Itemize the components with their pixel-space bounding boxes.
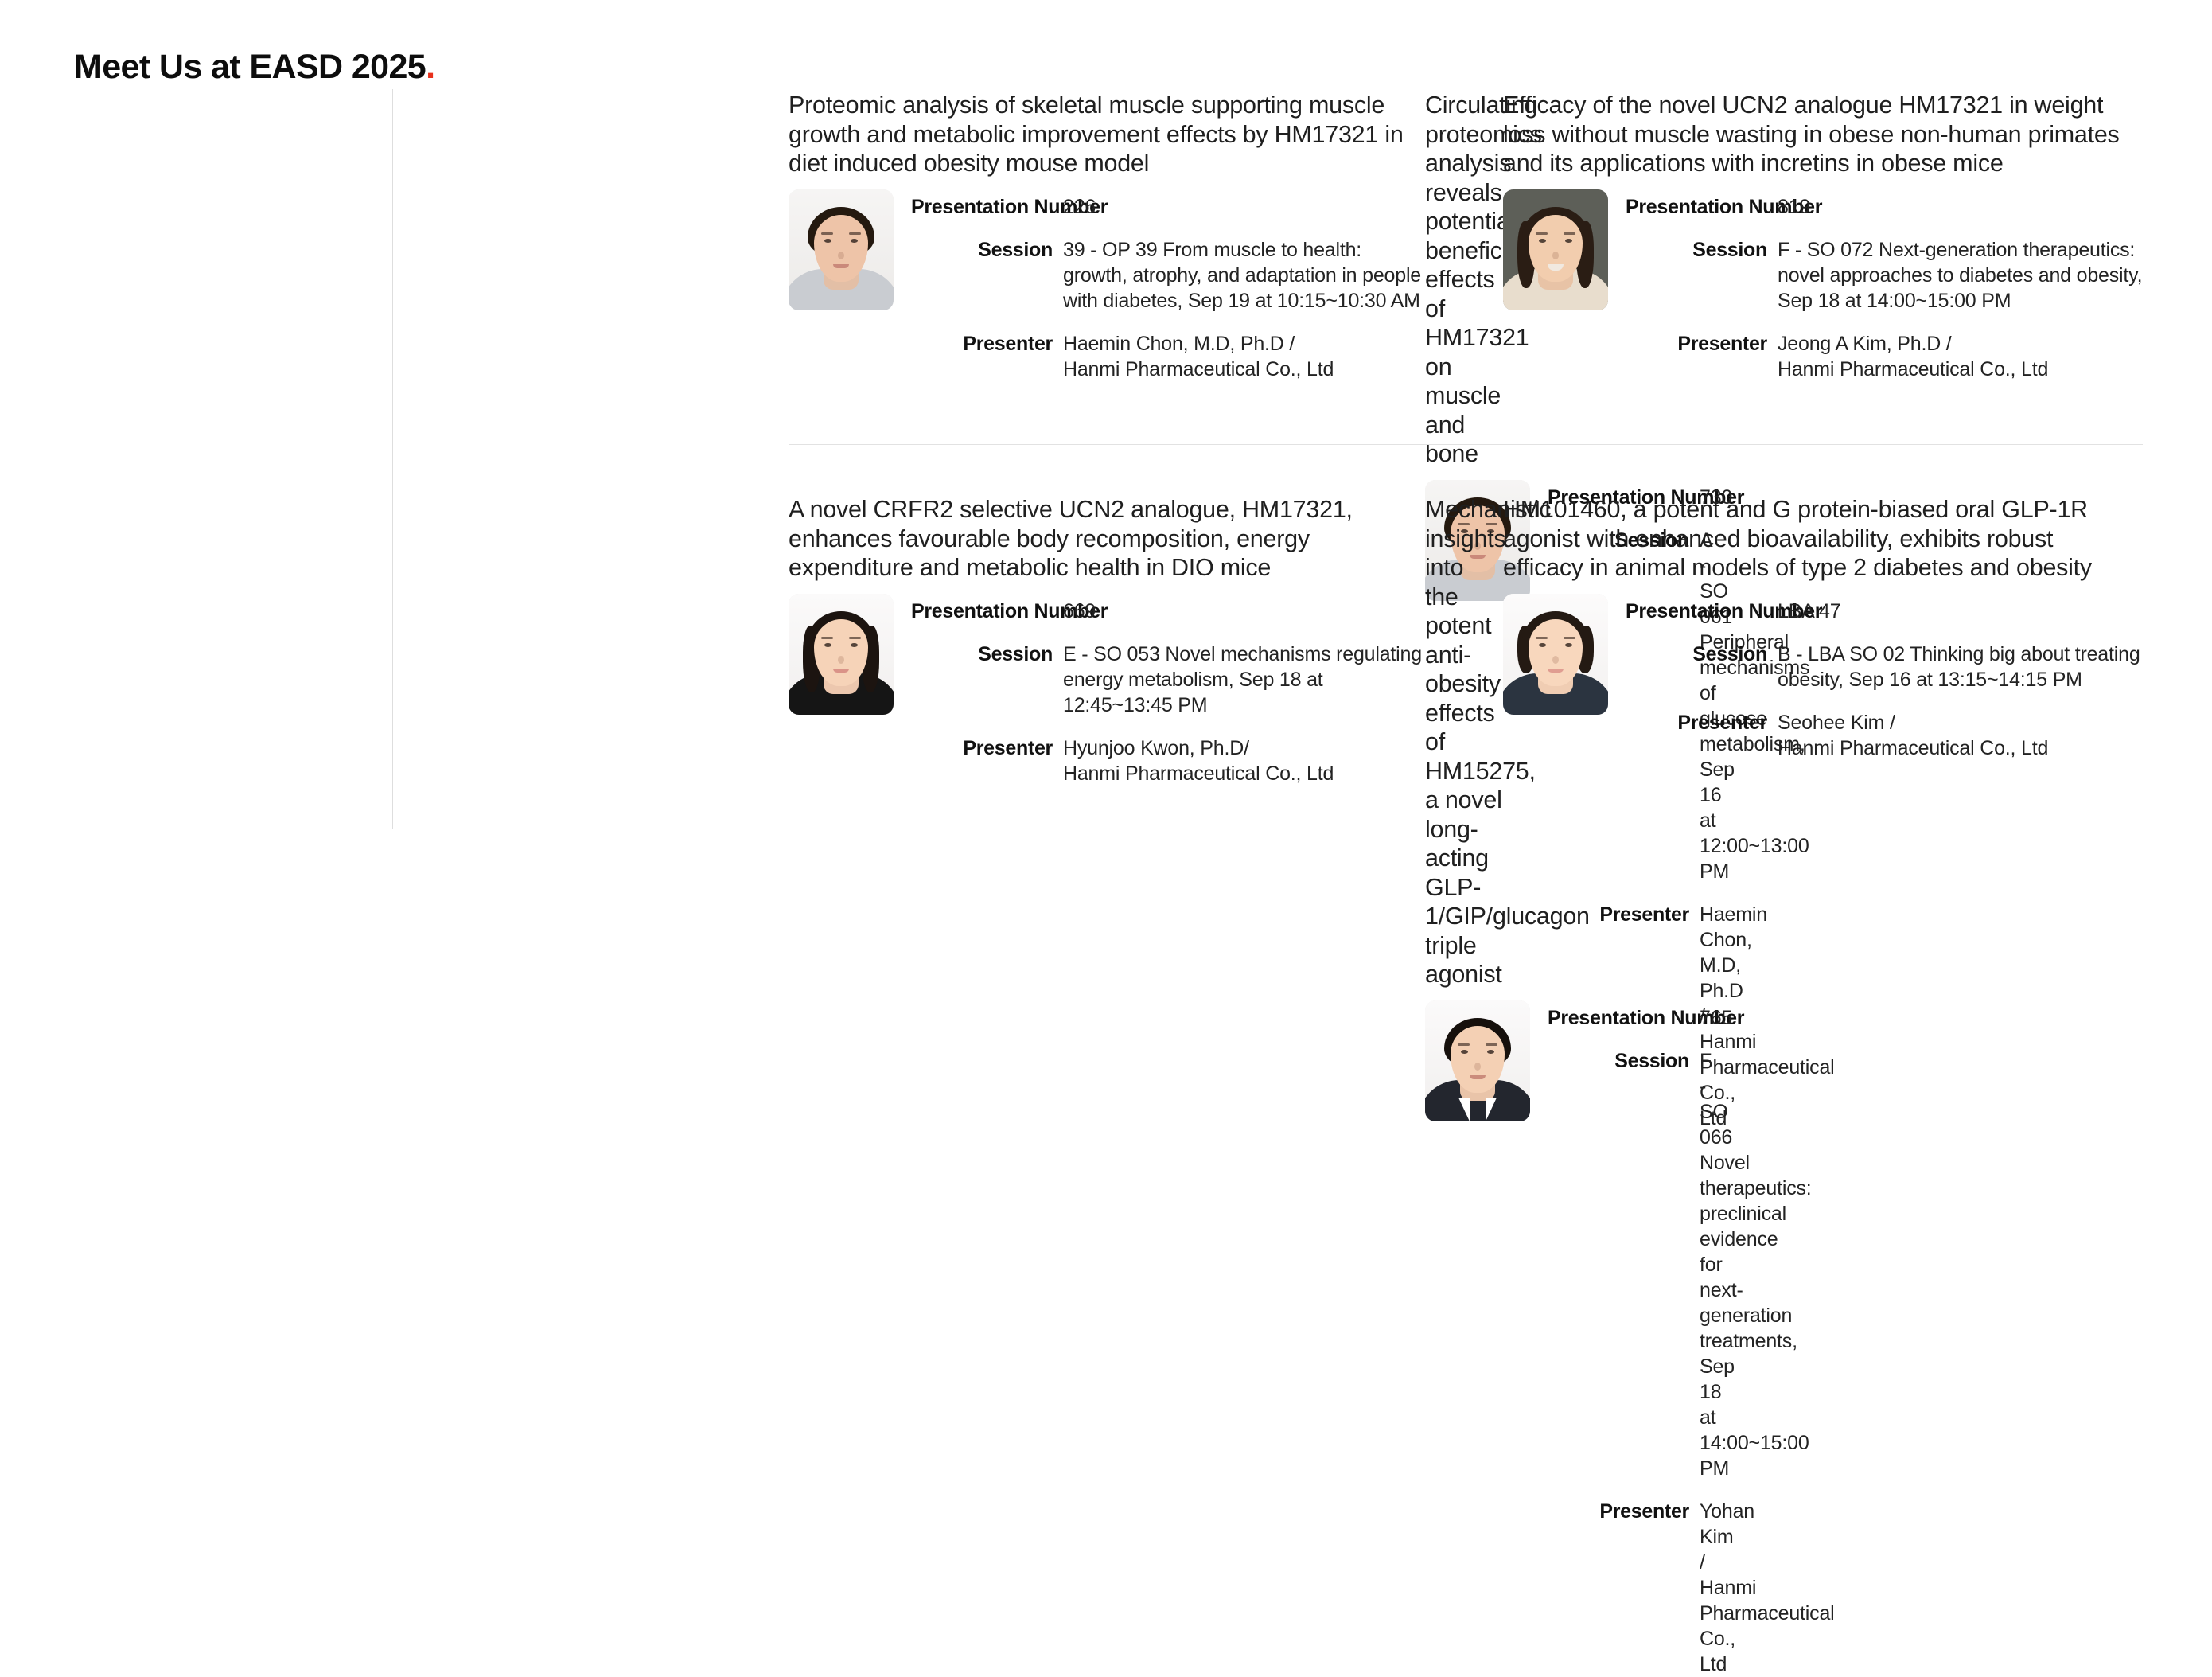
presentation-card[interactable]: A novel CRFR2 selective UCN2 analogue, H… [789, 449, 1425, 809]
presenter-name: Yohan Kim / [1700, 1500, 1754, 1574]
field-value: F - SO 072 Next-generation therapeutics:… [1767, 237, 2143, 314]
presenter-name: Hyunjoo Kwon, Ph.D/ [1063, 737, 1249, 759]
card-title: HM101460, a potent and G protein-biased … [1503, 495, 2140, 583]
photo-eye-left [1539, 239, 1546, 243]
presenter-name: Seohee Kim / [1778, 712, 1895, 734]
photo-brow-right [849, 637, 861, 639]
photo-mouth [1548, 669, 1564, 673]
field-label: Presentation Number [911, 194, 1053, 220]
column-divider-1 [392, 89, 393, 829]
card-body: Presentation Number 226 Session 39 - OP … [789, 189, 1425, 382]
field-value: Seohee Kim /Hanmi Pharmaceutical Co., Lt… [1767, 710, 2143, 761]
photo-collar-right [1486, 1098, 1497, 1121]
photo-eye-right [1565, 643, 1572, 647]
presentation-card[interactable]: Circulating proteomics analysis reveals … [1425, 89, 1503, 449]
field-value: E - SO 053 Novel mechanisms regulating e… [1053, 642, 1425, 718]
presenter-photo [789, 189, 894, 310]
presenter-affiliation: Hanmi Pharmaceutical Co., Ltd [1778, 735, 2143, 761]
field-value: Haemin Chon, M.D, Ph.D /Hanmi Pharmaceut… [1053, 331, 1425, 382]
poster-page: Meet Us at EASD 2025. Proteomic analysis… [0, 0, 2212, 915]
photo-nose [838, 656, 844, 664]
field-label: Presentation Number [1548, 1005, 1689, 1031]
field-label: Session [1626, 642, 1767, 667]
field-session: Session E - SO 053 Novel mechanisms regu… [911, 642, 1425, 718]
field-label: Presenter [911, 735, 1053, 761]
photo-mouth [833, 264, 849, 268]
card-title: A novel CRFR2 selective UCN2 analogue, H… [789, 495, 1425, 583]
field-label: Presenter [911, 331, 1053, 357]
photo-brow-left [1536, 232, 1548, 235]
photo-brow-right [1486, 1043, 1497, 1046]
field-value: 765 [1689, 1005, 1700, 1031]
photo-eye-right [851, 239, 858, 243]
card-title: Mechanistic insights into the potent ant… [1425, 495, 1503, 989]
field-presentation-number: Presentation Number LBA 47 [1626, 599, 2143, 624]
field-label: Presenter [1626, 710, 1767, 735]
photo-brow-left [821, 637, 833, 639]
field-label: Session [1548, 1048, 1689, 1074]
field-presentation-number: Presentation Number 819 [1626, 194, 2143, 220]
photo-face [1529, 619, 1583, 686]
photo-eye-left [824, 239, 831, 243]
field-label: Presenter [1548, 1499, 1689, 1524]
presentation-card[interactable]: Proteomic analysis of skeletal muscle su… [789, 89, 1425, 449]
presentation-card[interactable]: Mechanistic insights into the potent ant… [1425, 449, 1503, 809]
page-title-accent-dot: . [426, 48, 434, 86]
card-body: Presentation Number 819 Session F - SO 0… [1503, 189, 2143, 382]
card-body: Presentation Number 765 Session F - SO 0… [1425, 1000, 1503, 1677]
photo-collar-left [1458, 1098, 1470, 1121]
photo-brow-right [1564, 637, 1575, 639]
field-value: 669 [1053, 599, 1425, 624]
field-session: Session 39 - OP 39 From muscle to health… [911, 237, 1425, 314]
photo-brow-left [821, 232, 833, 235]
field-value: Yohan Kim /Hanmi Pharmaceutical Co., Ltd [1689, 1499, 1700, 1677]
field-value: 39 - OP 39 From muscle to health: growth… [1053, 237, 1425, 314]
field-label: Presenter [1626, 331, 1767, 357]
field-session: Session B - LBA SO 02 Thinking big about… [1626, 642, 2143, 692]
field-label: Presentation Number [1626, 599, 1767, 624]
photo-eye-left [824, 643, 831, 647]
presenter-photo [1503, 594, 1608, 715]
photo-mouth [1470, 1075, 1486, 1079]
photo-nose [1474, 1063, 1481, 1071]
photo-nose [1552, 252, 1559, 259]
card-body: Presentation Number 669 Session E - SO 0… [789, 594, 1425, 786]
field-value: B - LBA SO 02 Thinking big about treatin… [1767, 642, 2143, 692]
photo-eye-left [1461, 1050, 1468, 1054]
field-value: F - SO 066 Novel therapeutics: preclinic… [1689, 1048, 1700, 1481]
presentation-card[interactable]: Efficacy of the novel UCN2 analogue HM17… [1503, 89, 2143, 449]
presentation-grid: Proteomic analysis of skeletal muscle su… [74, 89, 2143, 809]
photo-brow-right [1564, 232, 1575, 235]
photo-eye-right [1565, 239, 1572, 243]
presenter-affiliation: Hanmi Pharmaceutical Co., Ltd [1063, 761, 1425, 786]
presenter-name: Haemin Chon, M.D, Ph.D / [1063, 333, 1295, 355]
field-presenter: Presenter Seohee Kim /Hanmi Pharmaceutic… [1626, 710, 2143, 761]
field-list: Presentation Number 819 Session F - SO 0… [1626, 189, 2143, 382]
field-presenter: Presenter Haemin Chon, M.D, Ph.D /Hanmi … [911, 331, 1425, 382]
photo-brow-left [1536, 637, 1548, 639]
photo-mouth [833, 669, 849, 673]
field-value: Hyunjoo Kwon, Ph.D/Hanmi Pharmaceutical … [1053, 735, 1425, 786]
photo-nose [1552, 656, 1559, 664]
photo-eye-right [851, 643, 858, 647]
photo-brow-right [849, 232, 861, 235]
field-label: Session [911, 237, 1053, 263]
field-presenter: Presenter Jeong A Kim, Ph.D /Hanmi Pharm… [1626, 331, 2143, 382]
field-label: Presentation Number [911, 599, 1053, 624]
presenter-affiliation: Hanmi Pharmaceutical Co., Ltd [1778, 357, 2143, 382]
presenter-photo [1425, 1000, 1530, 1121]
field-value: LBA 47 [1767, 599, 2143, 624]
field-label: Session [1626, 237, 1767, 263]
field-label: Presentation Number [1626, 194, 1767, 220]
column-divider-2 [750, 89, 750, 829]
page-title-text: Meet Us at EASD 2025 [74, 48, 426, 86]
presenter-name: Jeong A Kim, Ph.D / [1778, 333, 1952, 355]
photo-face [1451, 1026, 1505, 1093]
field-value: 226 [1053, 194, 1425, 220]
field-value: 819 [1767, 194, 2143, 220]
field-presentation-number: Presentation Number 226 [911, 194, 1425, 220]
photo-face [1529, 215, 1583, 282]
photo-face [814, 619, 868, 686]
card-title: Efficacy of the novel UCN2 analogue HM17… [1503, 91, 2140, 178]
photo-eye-right [1487, 1050, 1494, 1054]
presenter-photo [789, 594, 894, 715]
field-presentation-number: Presentation Number 669 [911, 599, 1425, 624]
photo-brow-left [1458, 1043, 1470, 1046]
card-body: Presentation Number LBA 47 Session B - L… [1503, 594, 2143, 761]
field-list: Presentation Number LBA 47 Session B - L… [1626, 594, 2143, 761]
card-title: Circulating proteomics analysis reveals … [1425, 91, 1503, 469]
presenter-affiliation: Hanmi Pharmaceutical Co., Ltd [1063, 357, 1425, 382]
page-title: Meet Us at EASD 2025. [74, 45, 434, 88]
photo-eye-left [1539, 643, 1546, 647]
field-session: Session F - SO 072 Next-generation thera… [1626, 237, 2143, 314]
photo-face [814, 215, 868, 282]
field-value: Jeong A Kim, Ph.D /Hanmi Pharmaceutical … [1767, 331, 2143, 382]
field-presenter: Presenter Hyunjoo Kwon, Ph.D/Hanmi Pharm… [911, 735, 1425, 786]
presentation-card[interactable]: HM101460, a potent and G protein-biased … [1503, 449, 2143, 809]
field-list: Presentation Number 226 Session 39 - OP … [911, 189, 1425, 382]
field-list: Presentation Number 669 Session E - SO 0… [911, 594, 1425, 786]
photo-nose [838, 252, 844, 259]
field-label: Session [911, 642, 1053, 667]
presenter-photo [1503, 189, 1608, 310]
card-title: Proteomic analysis of skeletal muscle su… [789, 91, 1425, 178]
